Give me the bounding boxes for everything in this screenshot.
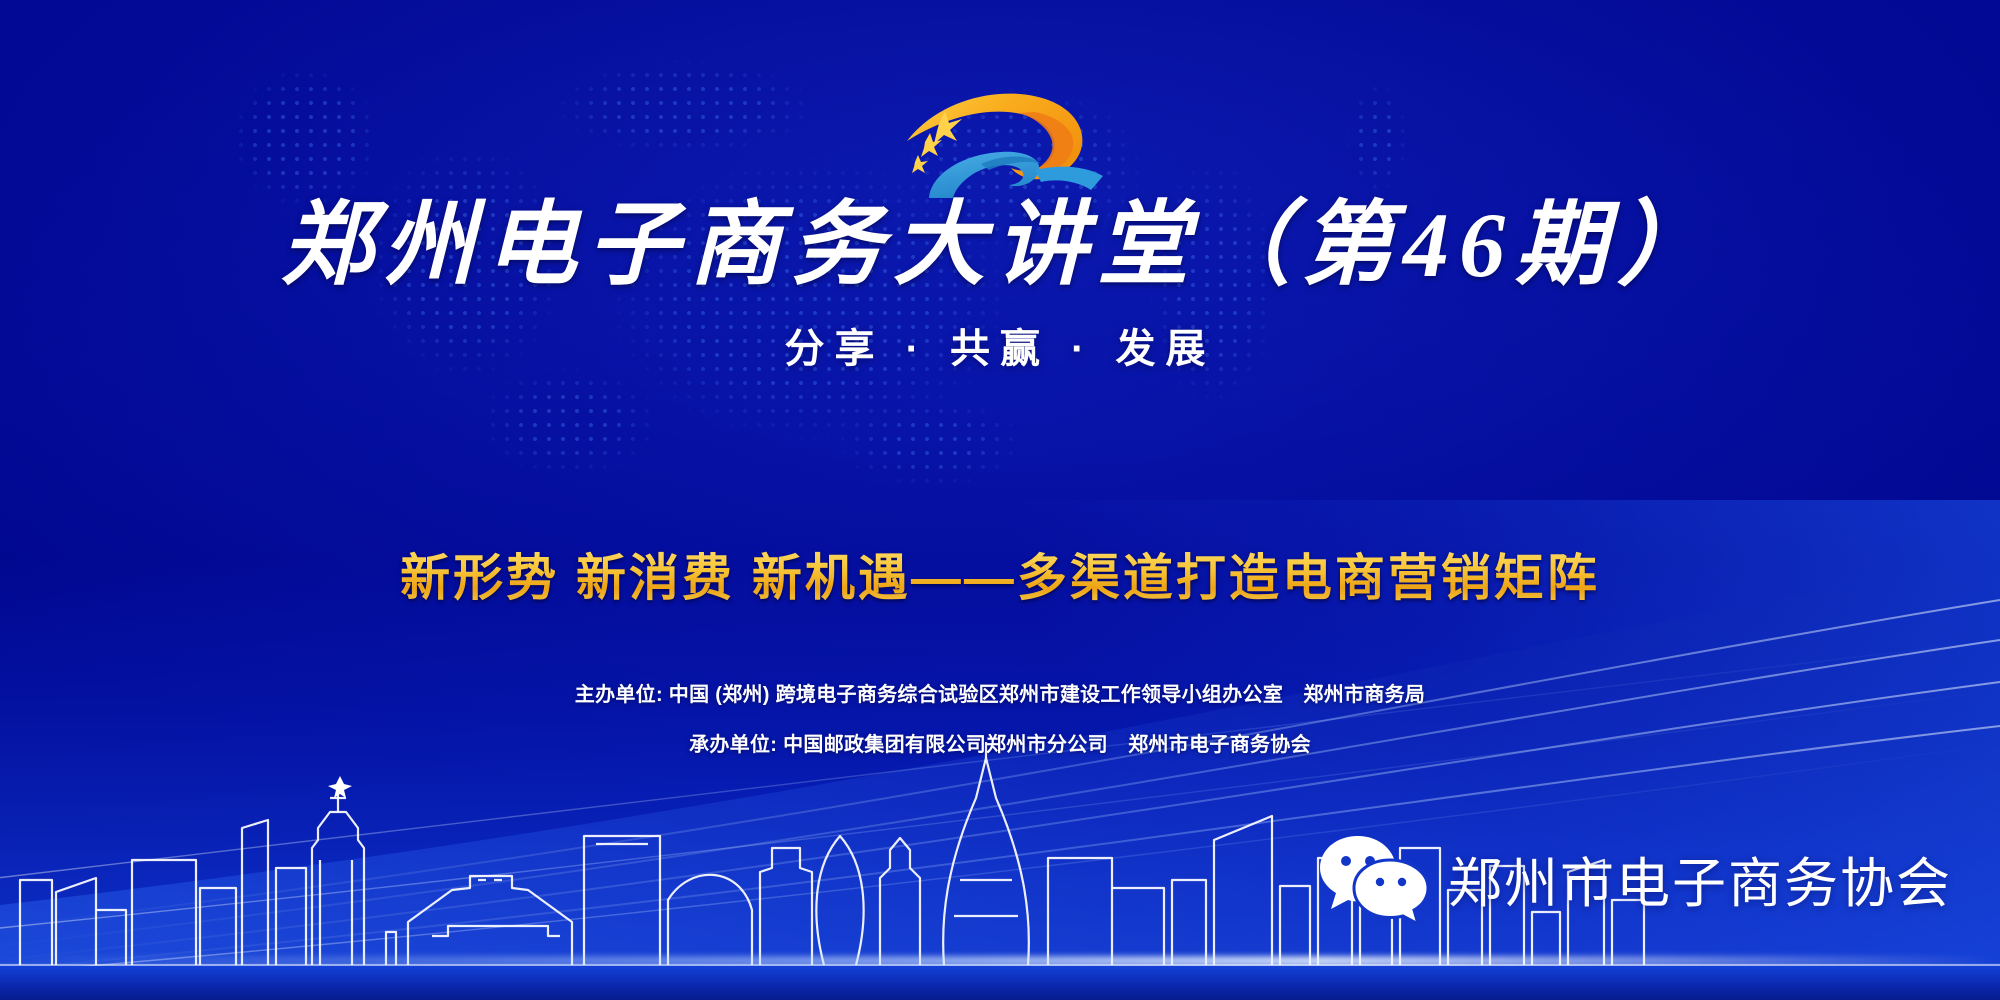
page-subtitle: 分享 · 共赢 · 发展 [0,316,2000,374]
cross-border-ecommerce-logo [885,78,1115,198]
organizer-line: 主办单位: 中国 (郑州) 跨境电子商务综合试验区郑州市建设工作领导小组办公室 … [0,678,2000,707]
logo-star-small [912,155,928,173]
bottom-strip [0,966,2000,1000]
topic-headline: 新形势 新消费 新机遇——多渠道打造电商营销矩阵 [0,538,2000,610]
page-title: 郑州电子商务大讲堂（第46期） [0,196,2000,295]
wechat-account-name: 郑州市电子商务协会 [1448,839,1952,918]
poster-canvas: 郑州电子商务大讲堂（第46期） 分享 · 共赢 · 发展 新形势 新消费 新机遇… [0,0,2000,1000]
bottom-light-band [0,956,2000,966]
wechat-icon [1318,830,1430,926]
executor-line: 承办单位: 中国邮政集团有限公司郑州市分公司 郑州市电子商务协会 [0,728,2000,757]
logo-ribbon-tail [1035,167,1103,190]
wechat-account[interactable]: 郑州市电子商务协会 [1318,830,1952,926]
logo-mark [885,78,1115,198]
